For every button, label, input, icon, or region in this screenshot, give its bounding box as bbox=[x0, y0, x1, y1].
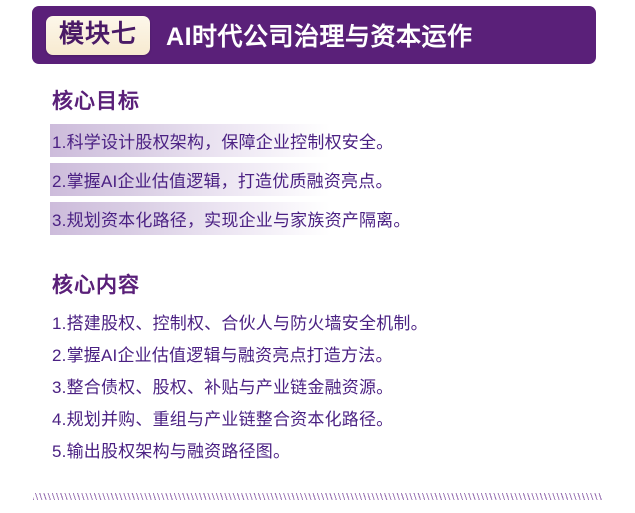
list-item: 3.规划资本化路径，实现企业与家族资产隔离。 bbox=[0, 202, 635, 235]
header-banner: 模块七 AI时代公司治理与资本运作 bbox=[32, 6, 596, 64]
section-heading-core-goals: 核心目标 bbox=[52, 88, 635, 115]
section-core-goals: 核心目标 1.科学设计股权架构，保障企业控制权安全。 2.掌握AI企业估值逻辑，… bbox=[0, 88, 635, 241]
list-item: 2.掌握AI企业估值逻辑，打造优质融资亮点。 bbox=[0, 163, 635, 196]
core-goals-list: 1.科学设计股权架构，保障企业控制权安全。 2.掌握AI企业估值逻辑，打造优质融… bbox=[0, 124, 635, 235]
list-item: 5.输出股权架构与融资路径图。 bbox=[0, 436, 635, 468]
list-item-text: 3.规划资本化路径，实现企业与家族资产隔离。 bbox=[52, 206, 411, 231]
list-item: 3.整合债权、股权、补贴与产业链金融资源。 bbox=[0, 372, 635, 404]
section-core-contents: 核心内容 1.搭建股权、控制权、合伙人与防火墙安全机制。 2.掌握AI企业估值逻… bbox=[0, 272, 635, 468]
bottom-hatch-divider bbox=[33, 493, 603, 500]
list-item-text: 1.科学设计股权架构，保障企业控制权安全。 bbox=[52, 128, 393, 153]
module-badge: 模块七 bbox=[46, 16, 150, 55]
section-heading-core-contents: 核心内容 bbox=[52, 272, 635, 299]
list-item-text: 2.掌握AI企业估值逻辑，打造优质融资亮点。 bbox=[52, 167, 393, 192]
core-contents-list: 1.搭建股权、控制权、合伙人与防火墙安全机制。 2.掌握AI企业估值逻辑与融资亮… bbox=[0, 308, 635, 468]
page-title: AI时代公司治理与资本运作 bbox=[166, 17, 473, 53]
list-item: 2.掌握AI企业估值逻辑与融资亮点打造方法。 bbox=[0, 340, 635, 372]
list-item: 4.规划并购、重组与产业链整合资本化路径。 bbox=[0, 404, 635, 436]
list-item: 1.科学设计股权架构，保障企业控制权安全。 bbox=[0, 124, 635, 157]
list-item: 1.搭建股权、控制权、合伙人与防火墙安全机制。 bbox=[0, 308, 635, 340]
